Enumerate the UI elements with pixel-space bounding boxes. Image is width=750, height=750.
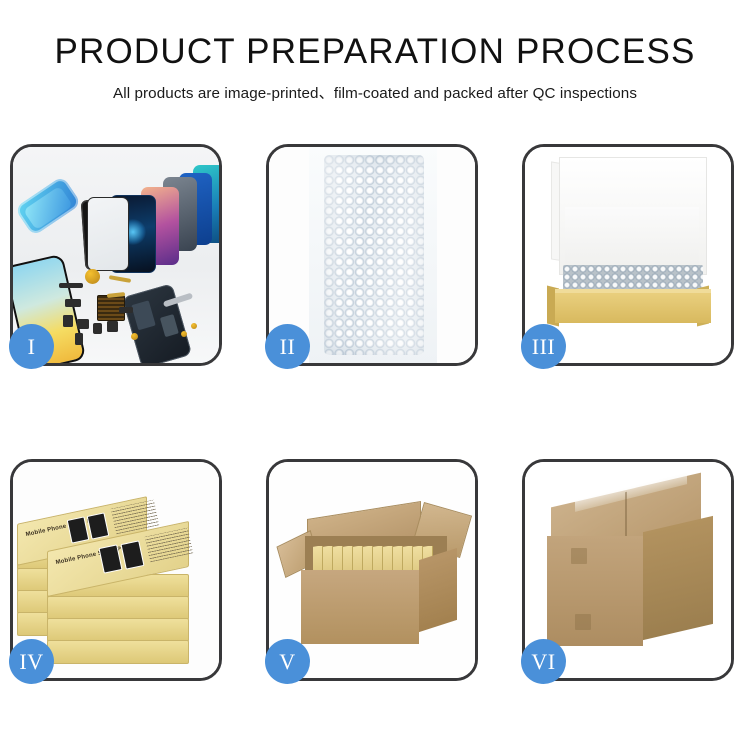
small-chip-d	[93, 323, 102, 334]
stack-box-fr-3	[47, 618, 189, 642]
carton-tab-upper	[571, 548, 587, 564]
carton-front-panel	[301, 570, 419, 644]
small-chip-e	[107, 321, 118, 332]
step-panel-6[interactable]: VI	[522, 459, 734, 681]
stack-box-fr-4	[47, 640, 189, 664]
process-step-grid: I II	[10, 144, 740, 681]
screen-protector-glass	[87, 197, 129, 271]
small-chip-f	[119, 307, 133, 313]
step-badge-1: I	[9, 324, 54, 369]
step-badge-6: VI	[521, 639, 566, 684]
screw-c	[191, 323, 197, 329]
stack-box-fr-2	[47, 596, 189, 620]
flex-cable-b	[109, 275, 131, 283]
step-badge-2: II	[265, 324, 310, 369]
step-badge-5: V	[265, 639, 310, 684]
page-title: PRODUCT PREPARATION PROCESS	[0, 34, 750, 71]
screw-b	[181, 331, 187, 337]
step-panel-4[interactable]: Mobile Phone Spare Parts Mobile Phone Sp…	[10, 459, 222, 681]
step-badge-3: III	[521, 324, 566, 369]
step-panel-5[interactable]: V	[266, 459, 478, 681]
speaker-module	[85, 269, 100, 284]
screw-a	[131, 333, 138, 340]
step-panel-2[interactable]: II	[266, 144, 478, 366]
small-chip-c	[77, 319, 89, 329]
box-front-kraft	[555, 293, 711, 323]
flex-strip-a	[59, 283, 83, 288]
product-preparation-page: PRODUCT PREPARATION PROCESS All products…	[0, 0, 750, 750]
page-header: PRODUCT PREPARATION PROCESS All products…	[0, 0, 750, 103]
sim-tray	[75, 333, 83, 345]
carton-right-side	[643, 516, 713, 640]
step-panel-1[interactable]: I	[10, 144, 222, 366]
carton-side-panel	[419, 548, 457, 632]
carton-tab-lower	[575, 614, 591, 630]
plastic-gloss-overlay	[324, 155, 424, 355]
foam-padding	[565, 207, 699, 269]
step-badge-4: IV	[9, 639, 54, 684]
small-chip-a	[65, 299, 81, 307]
carton-front-face	[547, 536, 643, 646]
page-subtitle: All products are image-printed、film-coat…	[0, 81, 750, 103]
small-chip-b	[63, 315, 73, 327]
step-panel-3[interactable]: III	[522, 144, 734, 366]
